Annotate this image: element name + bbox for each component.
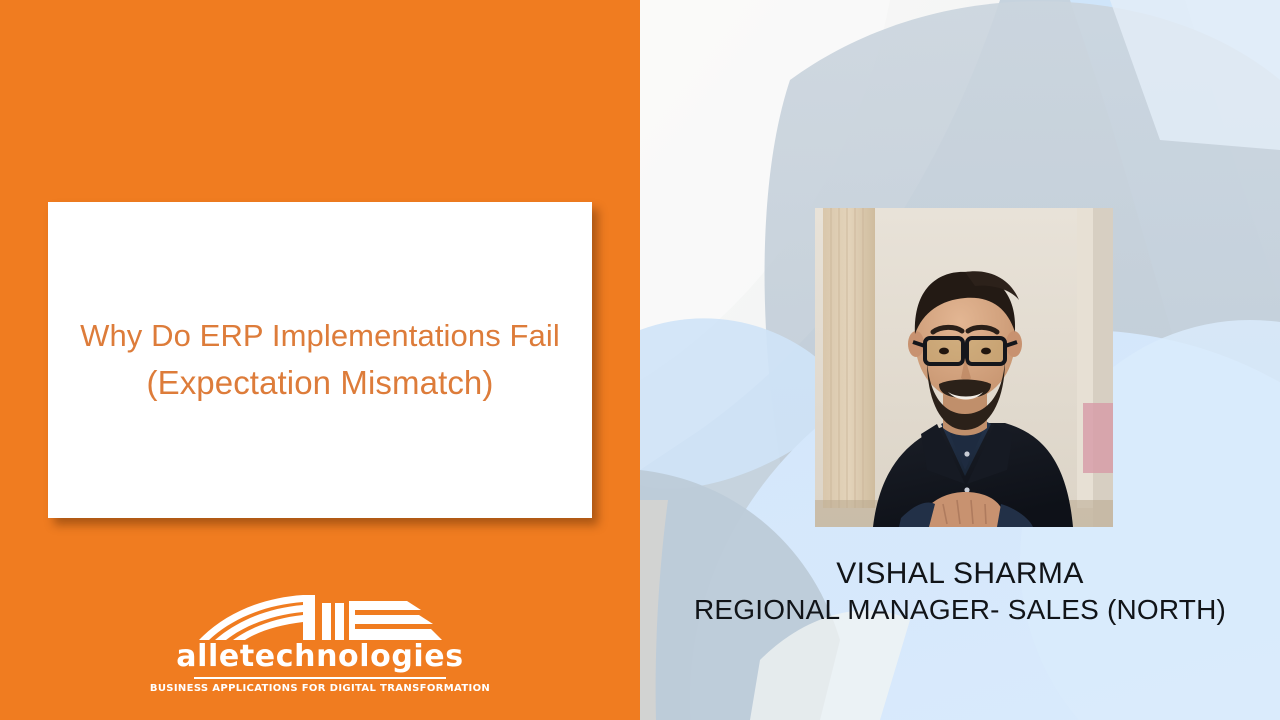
title-line-2: (Expectation Mismatch): [66, 359, 574, 408]
slide-title: Why Do ERP Implementations Fail (Expecta…: [48, 313, 592, 408]
presentation-slide: Why Do ERP Implementations Fail (Expecta…: [0, 0, 1280, 720]
speaker-caption: VISHAL SHARMA REGIONAL MANAGER- SALES (N…: [640, 556, 1280, 627]
title-card: Why Do ERP Implementations Fail (Expecta…: [48, 202, 592, 518]
speaker-role: REGIONAL MANAGER- SALES (NORTH): [640, 593, 1280, 627]
logo-tagline: BUSINESS APPLICATIONS FOR DIGITAL TRANSF…: [150, 683, 490, 694]
logo-divider: [194, 677, 446, 679]
speaker-name: VISHAL SHARMA: [640, 556, 1280, 593]
alle-arch-logo-icon: [197, 593, 443, 641]
right-photo-panel: VISHAL SHARMA REGIONAL MANAGER- SALES (N…: [640, 0, 1280, 720]
left-orange-panel: Why Do ERP Implementations Fail (Expecta…: [0, 0, 640, 720]
company-logo: alletechnologies BUSINESS APPLICATIONS F…: [0, 593, 640, 694]
title-line-1: Why Do ERP Implementations Fail: [66, 313, 574, 359]
speaker-portrait-photo: [815, 208, 1113, 527]
logo-wordmark: alletechnologies: [176, 642, 463, 672]
